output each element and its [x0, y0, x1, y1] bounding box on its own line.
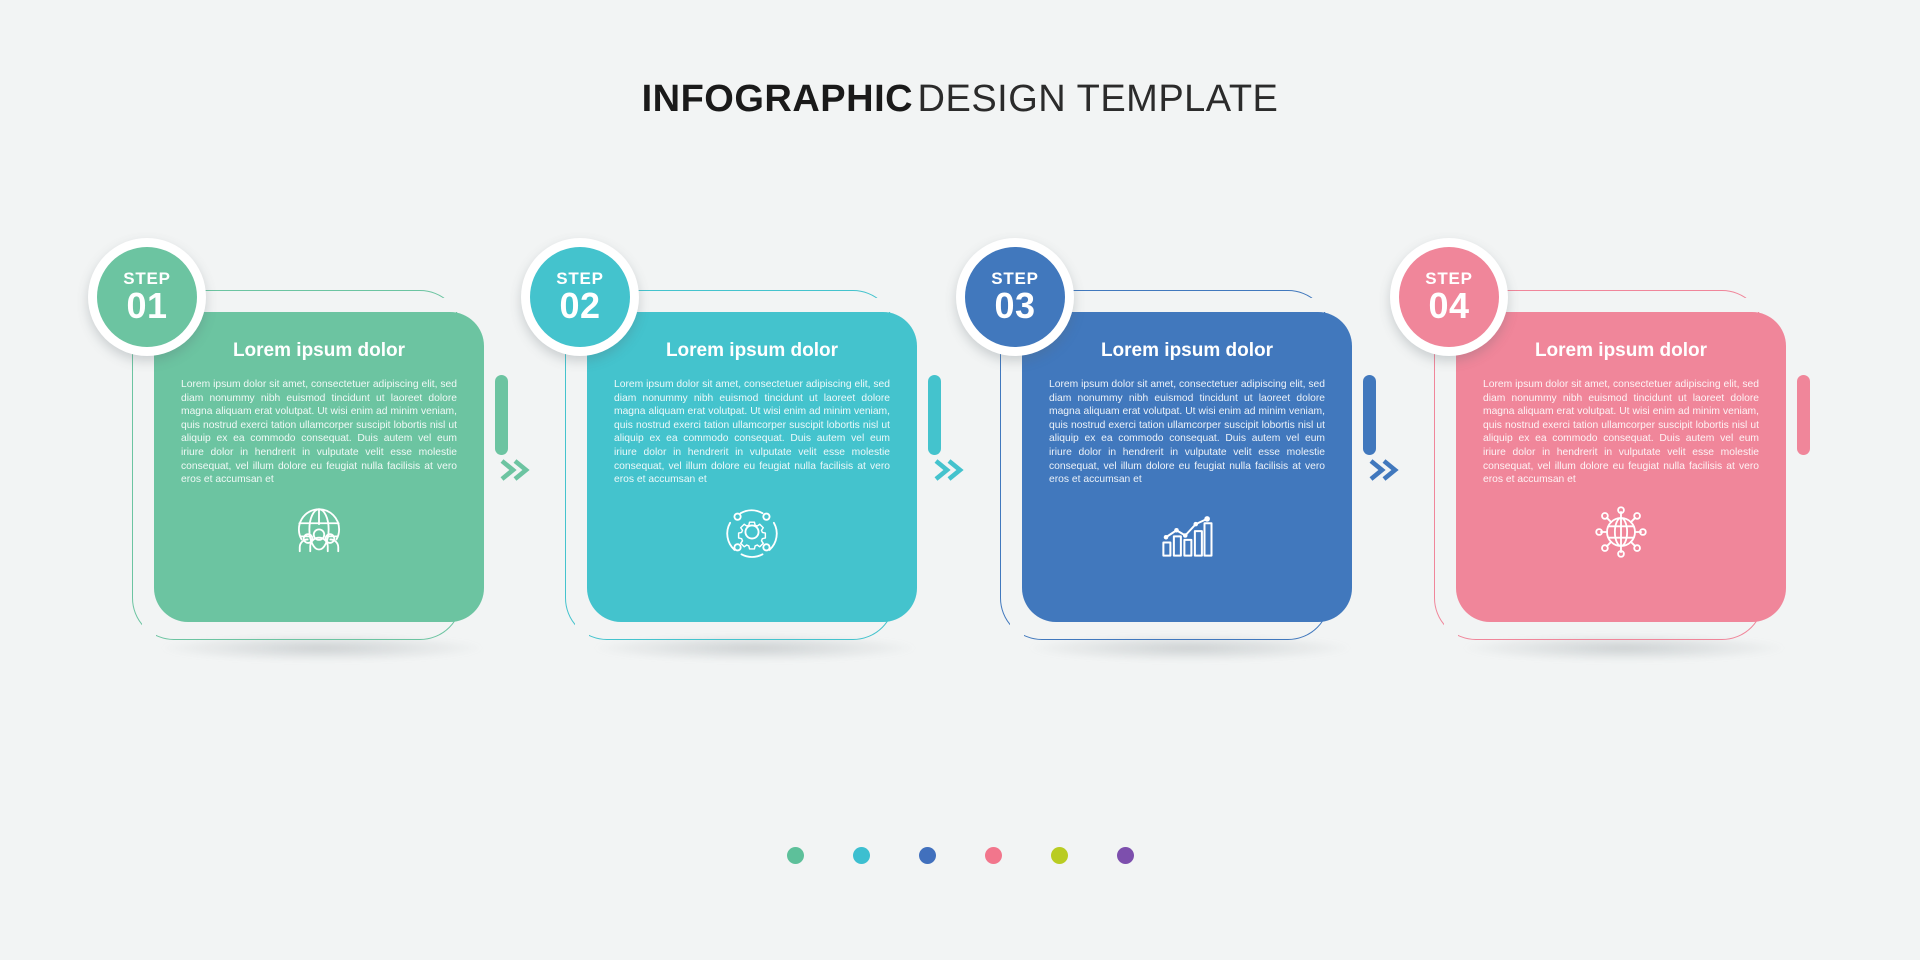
double-chevron-right-icon	[1366, 455, 1406, 485]
card-edge-tab	[495, 375, 508, 455]
step-card-04[interactable]: Lorem ipsum dolor Lorem ipsum dolor sit …	[1434, 290, 1764, 650]
card-edge-tab	[1797, 375, 1810, 455]
page-title-light: DESIGN TEMPLATE	[918, 78, 1279, 120]
palette-dot-4[interactable]	[985, 847, 1002, 864]
double-chevron-right-icon	[931, 455, 971, 485]
step-badge-number: 04	[1428, 288, 1469, 324]
card-title: Lorem ipsum dolor	[154, 340, 484, 362]
card-edge-tab	[1363, 375, 1376, 455]
card-title: Lorem ipsum dolor	[1456, 340, 1786, 362]
step-badge[interactable]: STEP 01	[88, 238, 206, 356]
step-badge[interactable]: STEP 04	[1390, 238, 1508, 356]
card-panel: Lorem ipsum dolor Lorem ipsum dolor sit …	[154, 312, 484, 622]
step-badge-number: 03	[994, 288, 1035, 324]
step-badge-inner: STEP 04	[1399, 247, 1499, 347]
card-body-text: Lorem ipsum dolor sit amet, consectetuer…	[181, 378, 457, 487]
step-badge-number: 01	[126, 288, 167, 324]
card-panel: Lorem ipsum dolor Lorem ipsum dolor sit …	[587, 312, 917, 622]
card-panel: Lorem ipsum dolor Lorem ipsum dolor sit …	[1022, 312, 1352, 622]
palette-dot-3[interactable]	[919, 847, 936, 864]
page-title: INFOGRAPHIC DESIGN TEMPLATE	[0, 78, 1920, 121]
card-body-text: Lorem ipsum dolor sit amet, consectetuer…	[614, 378, 890, 487]
double-chevron-right-icon	[497, 455, 537, 485]
palette-dot-1[interactable]	[787, 847, 804, 864]
step-badge-number: 02	[559, 288, 600, 324]
step-badge[interactable]: STEP 03	[956, 238, 1074, 356]
palette-dot-2[interactable]	[853, 847, 870, 864]
palette-dot-5[interactable]	[1051, 847, 1068, 864]
palette-dots	[0, 847, 1920, 864]
step-badge[interactable]: STEP 02	[521, 238, 639, 356]
step-card-03[interactable]: Lorem ipsum dolor Lorem ipsum dolor sit …	[1000, 290, 1330, 650]
globe-network-icon	[1456, 504, 1786, 560]
card-title: Lorem ipsum dolor	[587, 340, 917, 362]
bar-chart-growth-icon	[1022, 504, 1352, 560]
step-card-02[interactable]: Lorem ipsum dolor Lorem ipsum dolor sit …	[565, 290, 895, 650]
globe-people-icon	[154, 504, 484, 560]
step-card-01[interactable]: Lorem ipsum dolor Lorem ipsum dolor sit …	[132, 290, 462, 650]
steps-container: Lorem ipsum dolor Lorem ipsum dolor sit …	[0, 290, 1920, 710]
page-title-bold: INFOGRAPHIC	[642, 78, 914, 120]
card-panel: Lorem ipsum dolor Lorem ipsum dolor sit …	[1456, 312, 1786, 622]
palette-dot-6[interactable]	[1117, 847, 1134, 864]
card-title: Lorem ipsum dolor	[1022, 340, 1352, 362]
card-body-text: Lorem ipsum dolor sit amet, consectetuer…	[1483, 378, 1759, 487]
card-body-text: Lorem ipsum dolor sit amet, consectetuer…	[1049, 378, 1325, 487]
step-badge-inner: STEP 02	[530, 247, 630, 347]
gear-network-icon	[587, 504, 917, 560]
step-badge-inner: STEP 01	[97, 247, 197, 347]
card-edge-tab	[928, 375, 941, 455]
step-badge-inner: STEP 03	[965, 247, 1065, 347]
